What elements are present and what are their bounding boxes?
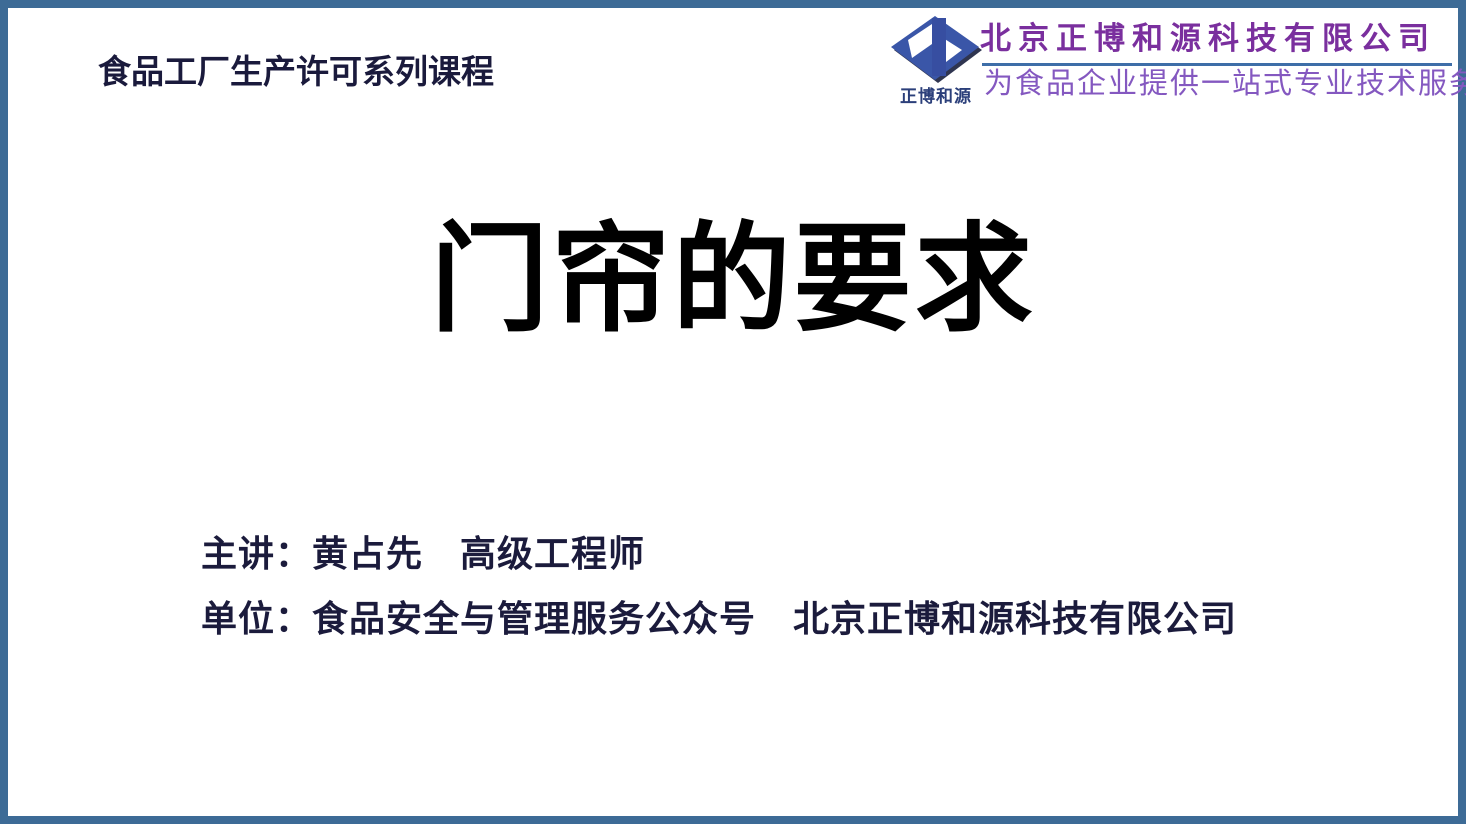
company-logo-wordmark: 正博和源 [890,82,982,107]
presenter-speaker-line: 主讲：黄占先 高级工程师 [201,536,1401,572]
branding-divider [982,63,1452,66]
slide-main-title: 门帘的要求 [8,214,1458,346]
company-branding-block: 正博和源 北京正博和源科技有限公司 为食品企业提供一站式专业技术服务 [880,8,1458,118]
company-logo-icon [888,14,982,86]
presenter-info-block: 主讲：黄占先 高级工程师 单位：食品安全与管理服务公众号 北京正博和源科技有限公… [201,536,1401,637]
presentation-slide: 食品工厂生产许可系列课程 [0,0,1466,824]
course-series-title: 食品工厂生产许可系列课程 [98,55,494,88]
company-slogan: 为食品企业提供一站式专业技术服务 [984,69,1466,101]
presenter-affiliation-line: 单位：食品安全与管理服务公众号 北京正博和源科技有限公司 [201,601,1401,637]
company-name: 北京正博和源科技有限公司 [980,22,1436,56]
slide-header: 食品工厂生产许可系列课程 [8,8,1458,120]
